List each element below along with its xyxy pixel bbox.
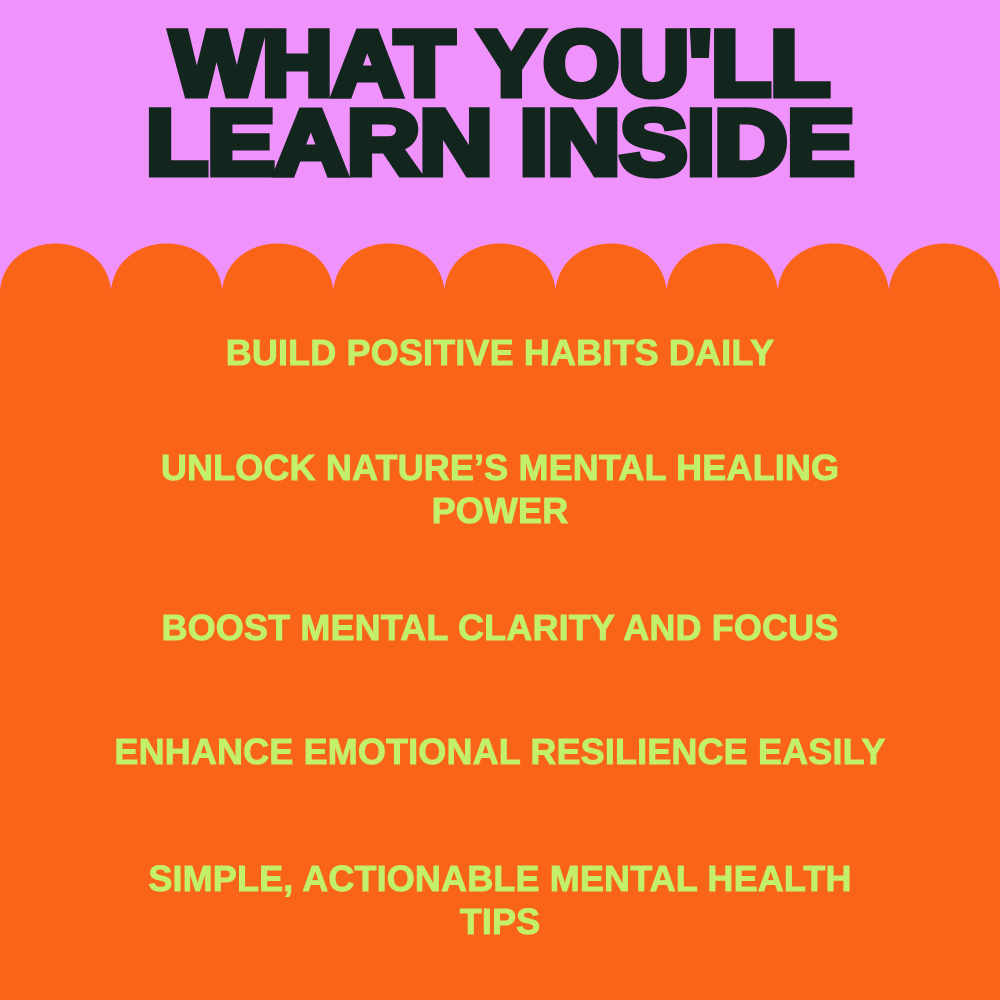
benefit-item: SIMPLE, ACTIONABLE MENTAL HEALTH TIPS (40, 858, 960, 943)
heading-line-2: LEARN INSIDE (0, 106, 1000, 181)
benefit-item-label: BUILD POSITIVE HABITS DAILY (226, 332, 775, 374)
benefit-item: BOOST MENTAL CLARITY AND FOCUS (40, 607, 960, 649)
benefit-item-label: SIMPLE, ACTIONABLE MENTAL HEALTH TIPS (105, 858, 895, 943)
page-title: WHAT YOU'LL LEARN INSIDE (0, 27, 1000, 182)
benefit-item-label: ENHANCE EMOTIONAL RESILIENCE EASILY (114, 731, 885, 773)
benefit-item-label: BOOST MENTAL CLARITY AND FOCUS (162, 607, 839, 649)
benefit-item: BUILD POSITIVE HABITS DAILY (40, 332, 960, 374)
poster-canvas: WHAT YOU'LL LEARN INSIDE BUILD POSITIVE … (0, 0, 1000, 1000)
benefit-item: UNLOCK NATURE’S MENTAL HEALING POWER (40, 447, 960, 532)
benefit-item: ENHANCE EMOTIONAL RESILIENCE EASILY (40, 731, 960, 773)
benefits-list: BUILD POSITIVE HABITS DAILY UNLOCK NATUR… (0, 300, 1000, 1000)
heading-line-1: WHAT YOU'LL (0, 27, 1000, 102)
benefit-item-label: UNLOCK NATURE’S MENTAL HEALING POWER (105, 447, 895, 532)
